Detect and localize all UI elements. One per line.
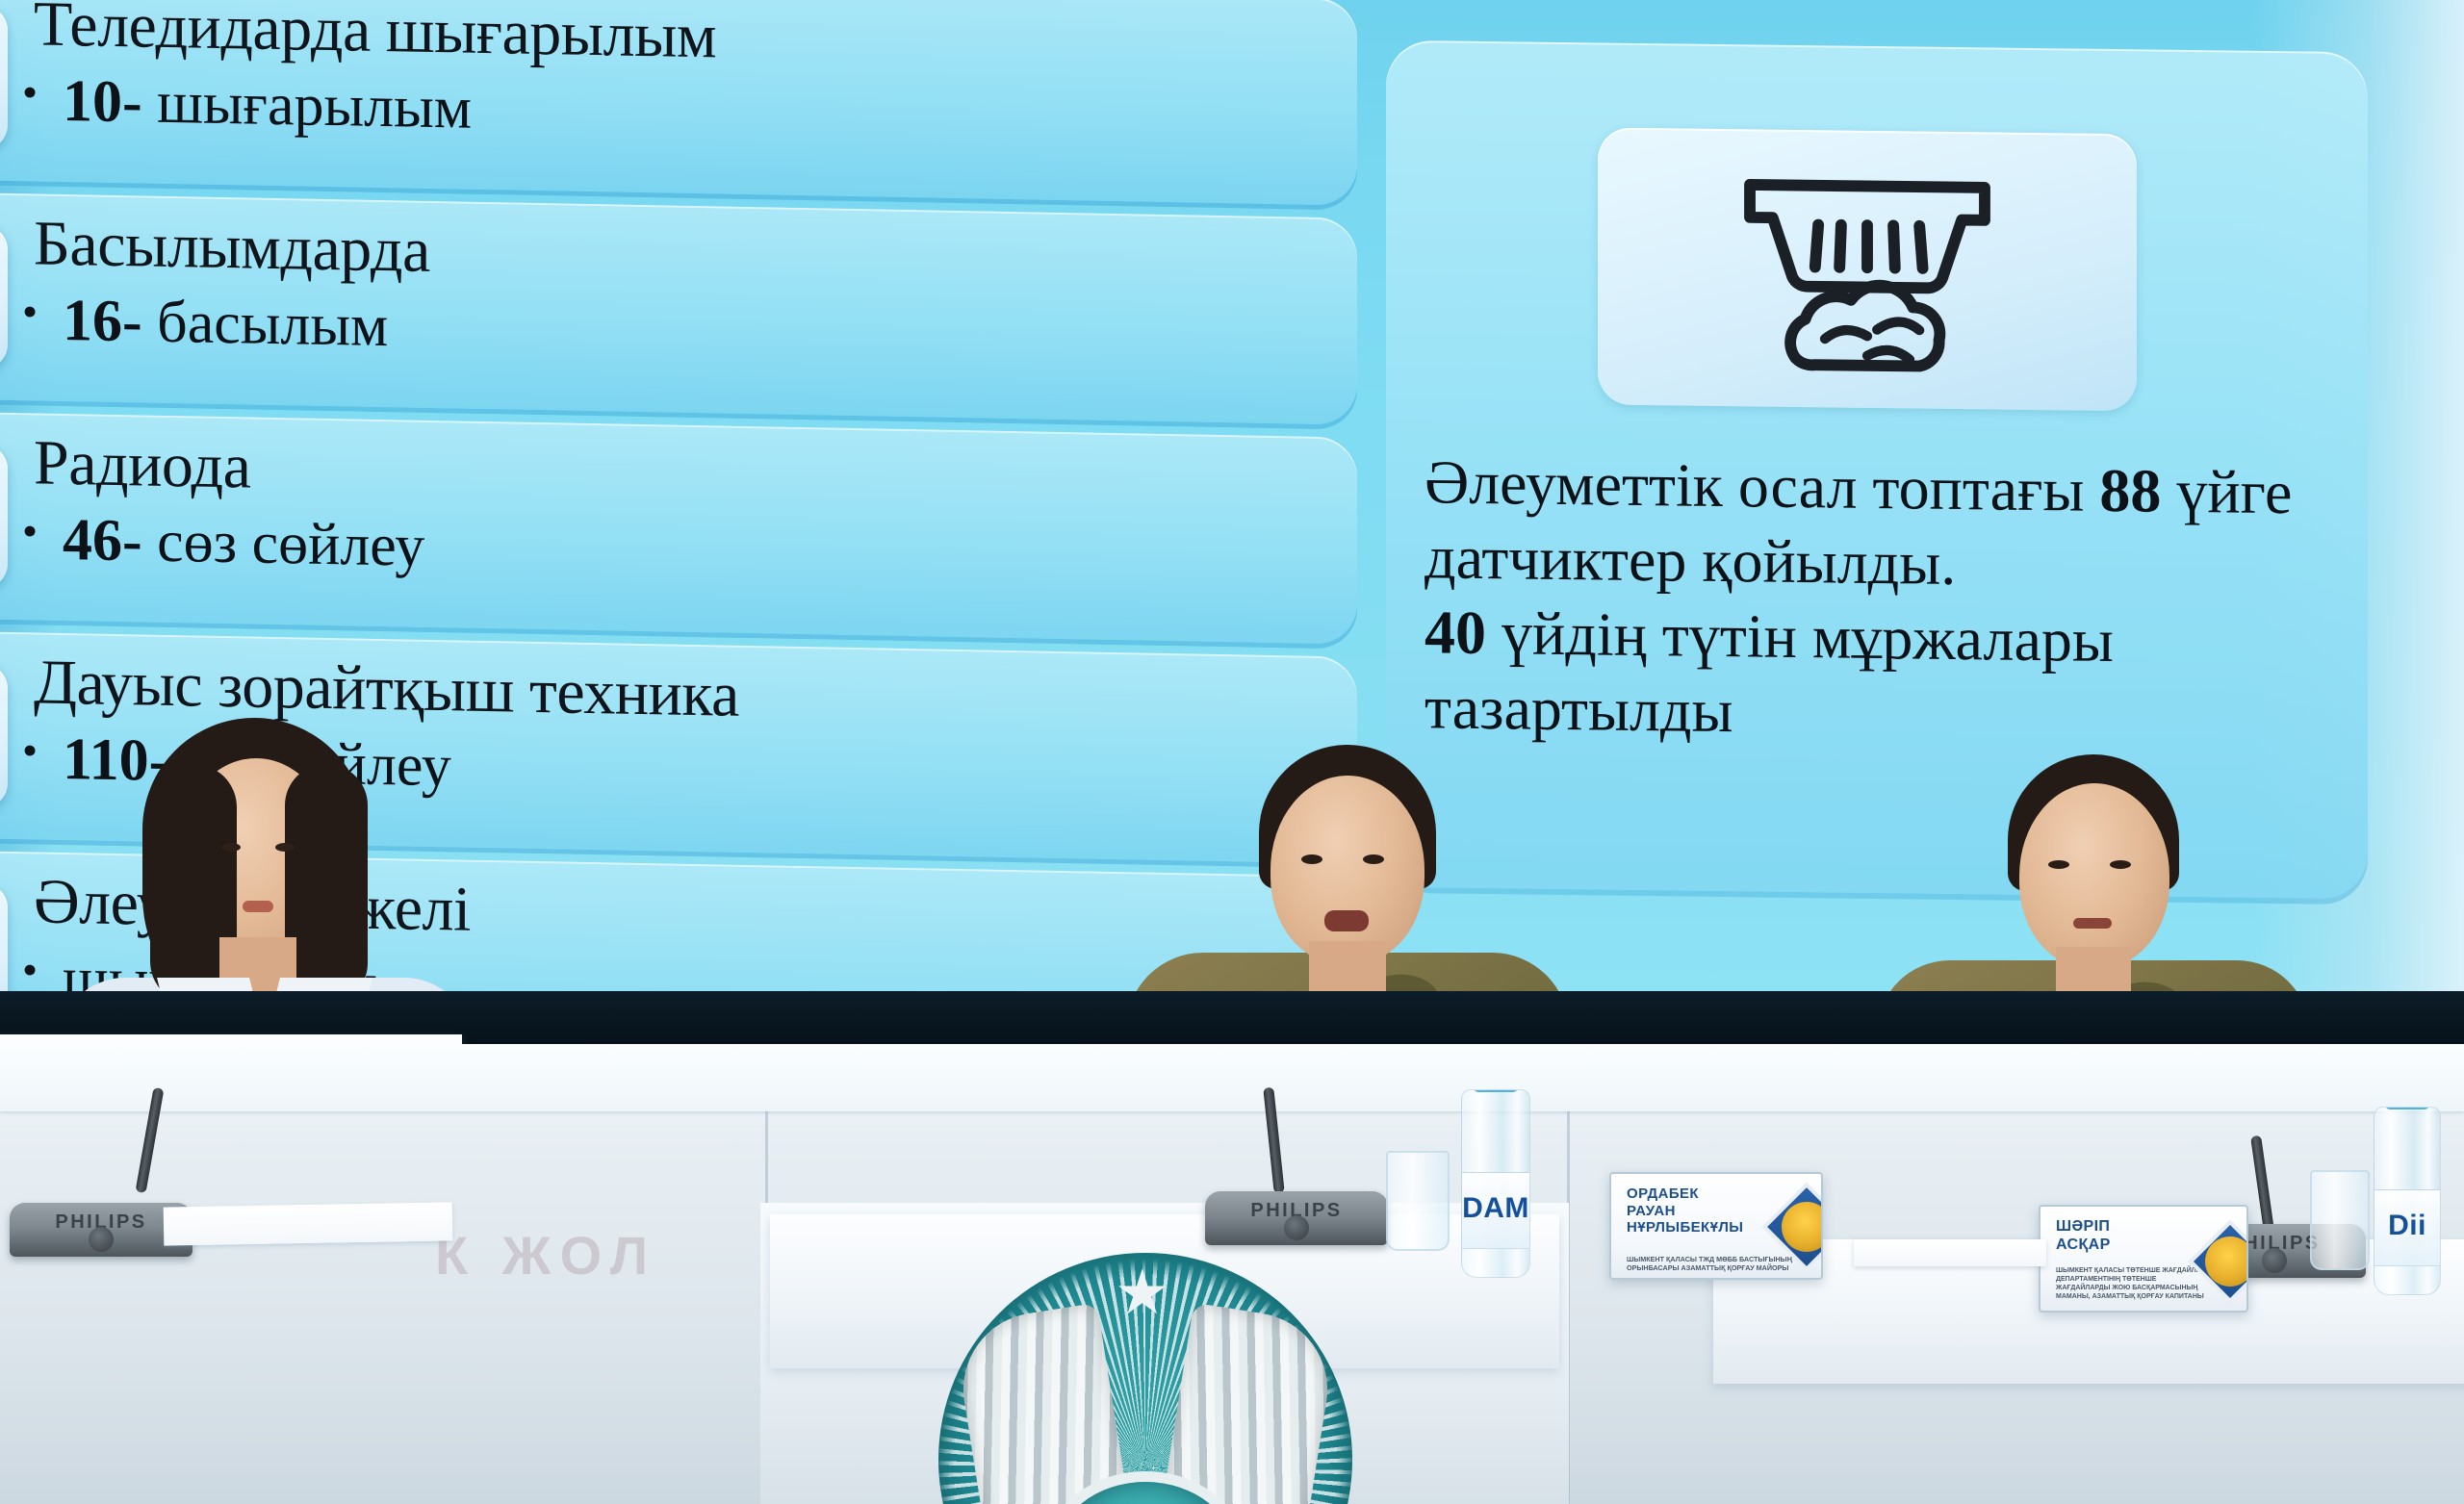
smoke-detector-icon [1598, 127, 2137, 411]
nameplate-subtitle-line-3: ЖАҒДАЙЛАРДЫ ЖОЮ БАСҚАРМАСЫНЫҢ [2056, 1284, 2235, 1292]
right-text-line-3: 40 үйдің түтін мұржалары [1424, 595, 2348, 681]
right-line1-post: үйге [2161, 457, 2292, 527]
microphone-mute-button[interactable] [89, 1227, 114, 1252]
slide-right-text: Әлеуметтік осал топтағы 88 үйге датчикте… [1424, 445, 2348, 756]
conference-table-top [0, 1044, 2464, 1111]
person-center-mouth [1324, 910, 1369, 931]
nameplate-name: ШӘРІП АСҚАР [2056, 1218, 2111, 1255]
screenshot-root: Теледидарда шығарылым 10- шығарылым Басы… [0, 0, 2464, 1504]
person-center-eye-left [1301, 854, 1322, 864]
newspaper-icon [0, 222, 8, 370]
right-text-line-2: датчиктер қойылды. [1424, 520, 2348, 606]
slide-row-bullet-number: 46- [63, 507, 142, 574]
table-reflection-text: К ЖОЛ [435, 1224, 657, 1287]
nameplate-name: ОРДАБЕК РАУАН НҰРЛЫБЕКҰЛЫ [1627, 1185, 1743, 1236]
person-right-head [2019, 783, 2169, 968]
slide-row-press: Басылымдарда 16- басылым [0, 191, 1357, 425]
person-left-eye-left [221, 843, 241, 852]
right-line3-number: 40 [1424, 598, 1486, 667]
slide-row-bullet-number: 10- [63, 68, 142, 136]
right-line1-pre: Әлеуметтік осал топтағы [1424, 447, 2099, 524]
person-left-eye-right [275, 843, 295, 852]
slide-row-title: Радиода [34, 426, 250, 503]
bottle-cap-icon [2385, 1107, 2429, 1109]
nameplate-subtitle-line-4: МАМАНЫ, АЗАМАТТЫҚ ҚОРҒАУ КАПИТАНЫ [2056, 1292, 2235, 1301]
person-left-mouth [243, 901, 273, 912]
water-bottle-right[interactable]: Dii [2374, 1107, 2441, 1295]
slide-row-television: Теледидарда шығарылым 10- шығарылым [0, 0, 1357, 206]
slide-row-bullet-text: сөз сөйлеу [157, 509, 424, 579]
television-icon [0, 3, 8, 150]
bottle-label: Dii [2374, 1189, 2440, 1266]
right-line1-number: 88 [2099, 456, 2161, 525]
slide-row-title: Дауыс зорайтқыш техника [34, 646, 739, 731]
right-text-line-1: Әлеуметтік осал топтағы 88 үйге [1424, 445, 2348, 531]
person-left-hair-side-r [285, 764, 368, 1005]
person-center-head [1270, 776, 1424, 964]
nameplate-name-line-3: НҰРЛЫБЕКҰЛЫ [1627, 1219, 1743, 1236]
smoke-detector-glyph [1598, 127, 2137, 411]
microphone-mute-button[interactable] [2262, 1248, 2287, 1273]
slide-row-bullet-text: басылым [157, 290, 388, 359]
radio-icon [0, 442, 8, 589]
nameplate-subtitle: ШЫМКЕНТ ҚАЛАСЫ ТЖД МӨББ БАСТЫҒЫНЫҢ ОРЫНБ… [1627, 1255, 1809, 1273]
slide-row-bullet-text: шығарылым [157, 70, 472, 141]
nameplate-sharip: ШӘРІП АСҚАР ШЫМКЕНТ ҚАЛАСЫ ТӨТЕНШЕ ЖАҒДА… [2039, 1205, 2248, 1313]
papers-left[interactable] [164, 1202, 453, 1245]
nameplate-subtitle-line-1: ШЫМКЕНТ ҚАЛАСЫ ТЖД МӨББ БАСТЫҒЫНЫҢ [1627, 1255, 1809, 1263]
bottle-cap-icon [1474, 1089, 1518, 1092]
nameplate-name-line-1: ШӘРІП [2056, 1218, 2111, 1236]
slide-row-bullet: 16- басылым [63, 287, 388, 361]
bottle-label: DAM [1462, 1172, 1529, 1249]
person-center-neck [1309, 941, 1386, 991]
right-text-line-4: тазартылды [1424, 670, 2348, 756]
slide-row-bullet: 46- сөз сөйлеу [63, 506, 424, 581]
slide-row-bullet-number: 16- [63, 288, 142, 355]
drinking-glass-right[interactable] [2310, 1170, 2370, 1270]
water-bottle-center[interactable]: DAM [1461, 1089, 1530, 1278]
nameplate-name-line-2: АСҚАР [2056, 1236, 2111, 1255]
slide-row-bullet: 10- шығарылым [63, 67, 472, 143]
microphone-center[interactable]: PHILIPS [1205, 1191, 1388, 1245]
right-line3-post: үйдің түтін мұржалары [1486, 599, 2114, 675]
slide-row-title: Теледидарда шығарылым [34, 0, 716, 73]
nameplate-name-line-2: РАУАН [1627, 1203, 1743, 1220]
nameplate-ordabek: ОРДАБЕК РАУАН НҰРЛЫБЕКҰЛЫ ШЫМКЕНТ ҚАЛАСЫ… [1609, 1172, 1823, 1280]
slide-row-radio: Радиода 46- сөз сөйлеу [0, 410, 1357, 645]
person-right-eye-right [2110, 860, 2131, 869]
loudspeaker-icon [0, 661, 8, 808]
bottle-brand-text: Dii [2388, 1210, 2426, 1242]
person-center-eye-right [1363, 854, 1384, 864]
drinking-glass-center[interactable] [1386, 1151, 1450, 1251]
slide-row-title: Басылымдарда [34, 207, 430, 288]
bottle-brand-text: DAM [1462, 1192, 1529, 1225]
nameplate-subtitle-line-2: ОРЫНБАСАРЫ АЗАМАТТЫҚ ҚОРҒАУ МАЙОРЫ [1627, 1263, 1809, 1272]
person-right-eye-left [2048, 860, 2069, 869]
microphone-mute-button[interactable] [1284, 1215, 1309, 1240]
nameplate-name-line-1: ОРДАБЕК [1627, 1185, 1743, 1203]
papers-right[interactable] [1854, 1239, 2046, 1266]
person-right-mouth [2073, 918, 2112, 929]
kazakhstan-state-emblem [938, 1253, 1352, 1504]
